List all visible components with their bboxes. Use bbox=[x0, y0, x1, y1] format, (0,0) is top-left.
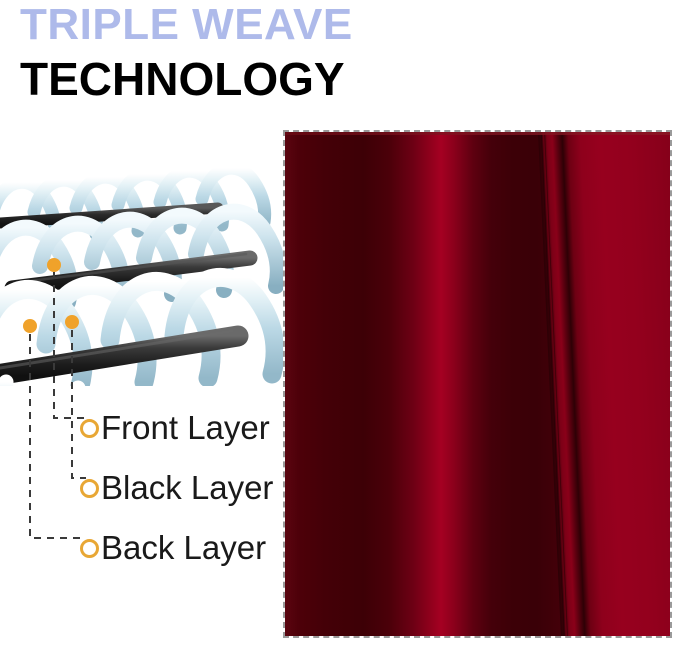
weave-marker-back bbox=[23, 319, 37, 333]
curtain-photo bbox=[285, 132, 670, 636]
legend-marker-icon bbox=[80, 539, 99, 558]
leader-front bbox=[47, 258, 86, 418]
curtain-photo-frame bbox=[283, 130, 672, 638]
legend-label-front-layer: Front Layer bbox=[101, 411, 270, 445]
legend-marker-icon bbox=[80, 419, 99, 438]
infographic-root: TRIPLE WEAVE TECHNOLOGY bbox=[0, 0, 679, 646]
weave-marker-black bbox=[65, 315, 79, 329]
legend-label-back-layer: Back Layer bbox=[101, 531, 266, 565]
curtain-top-edge bbox=[285, 132, 670, 135]
legend-item-front-layer[interactable]: Front Layer bbox=[80, 408, 270, 448]
heading-block: TRIPLE WEAVE TECHNOLOGY bbox=[20, 0, 660, 104]
legend-label-black-layer: Black Layer bbox=[101, 471, 273, 505]
heading-line-2: TECHNOLOGY bbox=[20, 48, 660, 104]
weave-marker-front bbox=[47, 258, 61, 272]
legend-item-back-layer[interactable]: Back Layer bbox=[80, 528, 266, 568]
heading-line-1: TRIPLE WEAVE bbox=[20, 0, 660, 48]
legend-item-black-layer[interactable]: Black Layer bbox=[80, 468, 273, 508]
legend-marker-icon bbox=[80, 479, 99, 498]
curtain-panel-right bbox=[538, 132, 670, 636]
curtain-panel-left bbox=[285, 132, 580, 636]
callout-legend-group: Front Layer Black Layer Back Layer bbox=[0, 250, 300, 580]
leader-black bbox=[65, 315, 86, 478]
